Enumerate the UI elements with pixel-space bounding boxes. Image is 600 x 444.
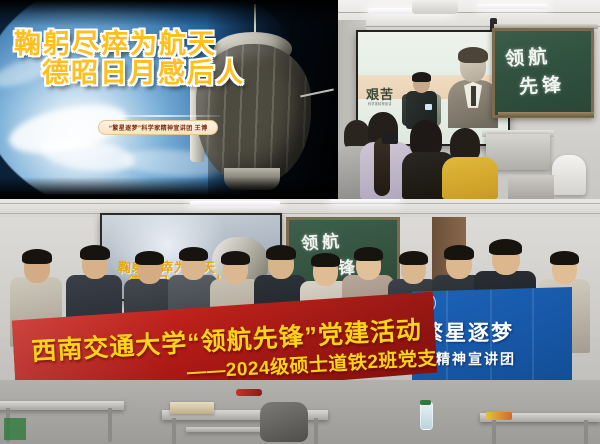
slide-caption: 科学家精神宣讲 [368, 101, 392, 106]
fluorescent-light [190, 201, 280, 206]
desk-leg [108, 408, 112, 442]
ceiling-seam [0, 203, 600, 204]
red-object-on-desk [236, 389, 262, 396]
slide-headline: 艰苦 [366, 84, 394, 103]
audience-head [410, 120, 442, 156]
portrait-tie [471, 86, 476, 106]
water-bottle [420, 402, 433, 430]
snack-item [486, 412, 512, 420]
flag-text-line2: 精神宣讲团 [436, 349, 516, 369]
bottle-cap [420, 400, 431, 405]
audience-ponytail [374, 138, 390, 196]
flag-text-line1: 繁星逐梦 [422, 317, 514, 347]
bottom-vignette [0, 177, 338, 199]
ceiling-fan-vent [412, 0, 458, 14]
backpack [260, 402, 308, 442]
green-bag [4, 418, 26, 440]
blackboard: 领航 先锋 [492, 28, 594, 118]
chair [552, 155, 586, 195]
slide-title-line1: 鞠躬尽瘁为航天 [14, 29, 217, 59]
desk-leg [314, 418, 318, 444]
fluorescent-light [478, 4, 548, 9]
person-hair [80, 245, 110, 260]
blackboard-text-line2: 先锋 [518, 70, 565, 99]
blackboard-text-line1: 领航 [300, 227, 344, 255]
desk-leg [584, 420, 588, 444]
panel-group-photo: 鞠躬尽瘁为航天 德昭日月感后人 领航 先锋 [0, 199, 600, 444]
top-vignette [0, 0, 338, 26]
slide-subtitle: “繁星逐梦”科学家精神宣讲团 王博 [98, 120, 218, 135]
desk [0, 401, 124, 410]
audience-coat [442, 157, 498, 199]
subtitle-divider [100, 115, 220, 117]
desk-leg [492, 420, 496, 444]
chalk-tray [498, 112, 594, 117]
ceiling-seam [0, 213, 600, 214]
person-hair [311, 253, 340, 267]
slide-title-line2: 德昭日月感后人 [14, 59, 284, 88]
presenter-hair [412, 72, 431, 82]
person-hair [550, 251, 579, 265]
fluorescent-light [330, 199, 400, 203]
portrait-hair [458, 47, 488, 63]
person-hair [179, 247, 208, 261]
person-hair [221, 251, 250, 265]
desk [508, 175, 554, 199]
panel-classroom-lecture: 艰苦 科学家精神宣讲 领航 先锋 [338, 0, 600, 199]
stacked-books [170, 402, 214, 414]
photo-collage: 鞠躬尽瘁为航天 德昭日月感后人 “繁星逐梦”科学家精神宣讲团 王博 [0, 0, 600, 444]
person-hair [135, 251, 164, 265]
panel-presentation-slide: 鞠躬尽瘁为航天 德昭日月感后人 “繁星逐梦”科学家精神宣讲团 王博 [0, 0, 338, 199]
person-hair [266, 245, 296, 260]
person-hair [399, 251, 428, 265]
presenter-badge [425, 104, 432, 110]
person-hair [22, 249, 52, 264]
person-hair [444, 245, 474, 260]
person-hair [354, 247, 383, 261]
person-hair [489, 239, 522, 255]
desk-leg [172, 418, 176, 444]
blackboard-text-line1: 领航 [504, 41, 552, 71]
tablet-device [382, 132, 398, 144]
slide-title: 鞠躬尽瘁为航天 德昭日月感后人 [14, 30, 284, 87]
